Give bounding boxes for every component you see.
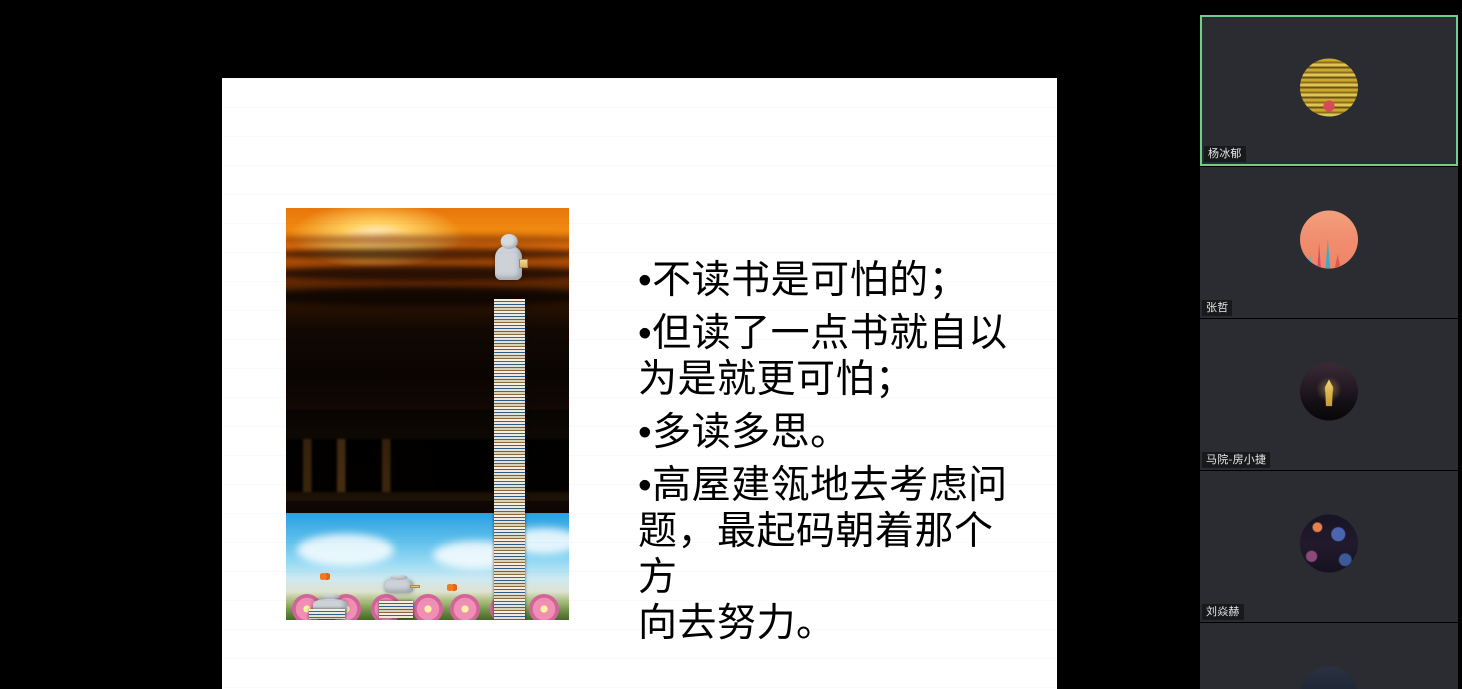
meeting-window: •不读书是可怕的； •但读了一点书就自以 为是就更可怕； •多读多思。 •高屋建… (0, 0, 1462, 689)
butterfly (320, 573, 330, 580)
figure-head (501, 234, 518, 249)
participant-name: 张哲 (1202, 300, 1232, 316)
held-book (410, 585, 420, 589)
slide-image-blue-sky-half (286, 513, 569, 620)
participant-name: 杨冰郁 (1204, 146, 1246, 162)
book-stack-tall (494, 299, 525, 620)
participant-filmstrip[interactable]: 杨冰郁 张哲 马院-房小捷 刘焱赫 (1196, 0, 1462, 689)
held-book (519, 259, 528, 268)
slide-bullet: •高屋建瓴地去考虑问 题，最起码朝着那个方 向去努力。 (638, 463, 1028, 647)
figure-on-tall-stack (495, 246, 522, 280)
slide-bullet: •但读了一点书就自以 为是就更可怕； (638, 311, 1028, 403)
avatar (1300, 362, 1358, 420)
participant-name: 刘焱赫 (1202, 604, 1244, 620)
participant-tile[interactable]: 马院-房小捷 (1200, 319, 1458, 470)
flower (413, 594, 443, 620)
participant-tile-active-speaker[interactable]: 杨冰郁 (1200, 15, 1458, 166)
screen-share-stage[interactable]: •不读书是可怕的； •但读了一点书就自以 为是就更可怕； •多读多思。 •高屋建… (0, 0, 1196, 689)
participant-name: 马院-房小捷 (1202, 452, 1270, 468)
cloud-band (286, 287, 569, 305)
participant-tile[interactable]: 张哲 (1200, 167, 1458, 318)
avatar (1300, 514, 1358, 572)
book-stack-short (309, 609, 346, 619)
butterfly (447, 584, 457, 591)
participant-tile[interactable]: 刘焱赫 (1200, 471, 1458, 622)
cloud-band (286, 235, 569, 244)
flower (529, 594, 559, 620)
slide-image-books-climb (286, 208, 569, 620)
avatar (1300, 210, 1358, 268)
figure-on-mid-stack (385, 579, 413, 593)
presentation-slide[interactable]: •不读书是可怕的； •但读了一点书就自以 为是就更可怕； •多读多思。 •高屋建… (222, 78, 1057, 689)
slide-bullet: •不读书是可怕的； (638, 258, 1028, 304)
avatar (1300, 666, 1358, 689)
city-silhouette (286, 439, 569, 493)
cloud-band (286, 266, 569, 281)
figure-head (391, 575, 408, 581)
figure-head (321, 594, 340, 599)
participant-tile-partial[interactable] (1200, 623, 1458, 689)
flower (450, 594, 480, 620)
slide-bullet: •多读多思。 (638, 410, 1028, 456)
avatar (1300, 58, 1358, 116)
cloud-puff (297, 534, 393, 566)
slide-bullet-text: •不读书是可怕的； •但读了一点书就自以 为是就更可怕； •多读多思。 •高屋建… (638, 258, 1028, 648)
book-stack-medium (379, 601, 413, 618)
